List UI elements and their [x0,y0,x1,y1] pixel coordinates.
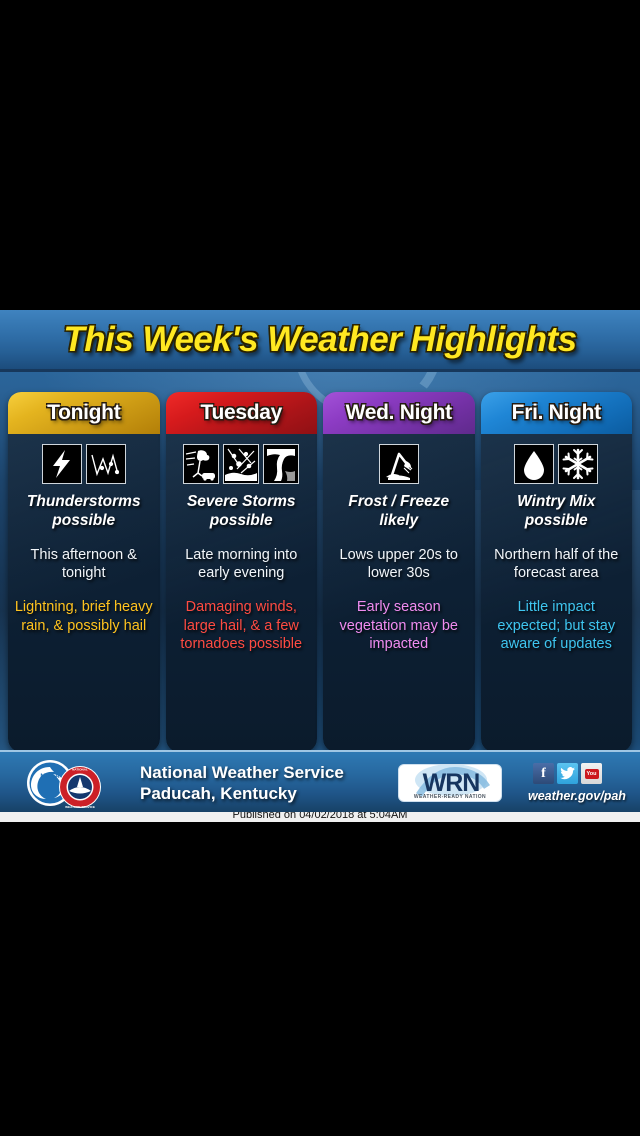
card-impact: Lightning, brief heavy rain, & possibly … [14,598,154,635]
social-links: f You [533,763,602,784]
card-day-label: Fri. Night [512,401,601,425]
icon-strip [183,444,299,484]
card-headline: Severe Storms possible [172,493,312,531]
card-day-label: Wed. Night [346,401,452,425]
card-header-tonight: Tonight [8,392,160,434]
card-body-fri-night: Wintry Mix possible Northern half of the… [481,434,633,752]
card-impact: Early season vegetation may be impacted [329,598,469,654]
card-timing: This afternoon & tonight [14,546,154,582]
card-day-label: Tonight [47,401,120,425]
snowflake-icon [558,444,598,484]
tornado-icon [263,444,299,484]
footer-bar: NOAA NATIONAL WEATHER SERVICE National W [0,750,640,812]
website-link[interactable]: weather.gov/pah [528,789,626,803]
weather-highlights-graphic: This Week's Weather Highlights Tonight [0,310,640,812]
agency-name: National Weather Service Paducah, Kentuc… [140,763,344,805]
title-banner: This Week's Weather Highlights [0,310,640,372]
card-body-tonight: Thunderstorms possible This afternoon & … [8,434,160,752]
nws-seal-icon: NATIONAL WEATHER SERVICE [56,765,104,810]
forecast-card-tonight[interactable]: Tonight Thunderstor [8,392,160,752]
frost-wilted-plant-icon [379,444,419,484]
screenshot-root: This Week's Weather Highlights Tonight [0,0,640,1136]
lightning-bolt-icon [42,444,82,484]
hail-icon [223,444,259,484]
card-day-label: Tuesday [200,401,282,425]
twitter-icon[interactable] [557,763,578,784]
card-timing: Late morning into early evening [172,546,312,582]
wrn-text: WRN [423,769,480,797]
card-body-wed-night: Frost / Freeze likely Lows upper 20s to … [323,434,475,752]
weather-ready-nation-logo[interactable]: WRN WEATHER-READY NATION [398,764,502,802]
facebook-icon[interactable]: f [533,763,554,784]
forecast-card-tuesday[interactable]: Tuesday [166,392,318,752]
icon-strip [379,444,419,484]
icon-strip [514,444,598,484]
card-headline: Thunderstorms possible [14,493,154,531]
card-timing: Lows upper 20s to lower 30s [329,546,469,582]
page-title: This Week's Weather Highlights [63,320,576,360]
card-impact: Damaging winds, large hail, & a few torn… [172,598,312,654]
card-headline: Frost / Freeze likely [329,493,469,531]
card-headline: Wintry Mix possible [487,493,627,531]
card-impact: Little impact expected; but stay aware o… [487,598,627,654]
published-timestamp: Published on 04/02/2018 at 5:04AM [0,812,640,821]
icon-strip [42,444,126,484]
forecast-card-fri-night[interactable]: Fri. Night [481,392,633,752]
card-body-tuesday: Severe Storms possible Late morning into… [166,434,318,752]
forecast-cards-row: Tonight Thunderstor [8,392,632,752]
agency-line-2: Paducah, Kentucky [140,784,344,805]
card-header-fri-night: Fri. Night [481,392,633,434]
svg-text:WEATHER SERVICE: WEATHER SERVICE [65,805,95,809]
card-header-wed-night: Wed. Night [323,392,475,434]
card-header-tuesday: Tuesday [166,392,318,434]
agency-line-1: National Weather Service [140,763,344,784]
published-strip: Published on 04/02/2018 at 5:04AM [0,812,640,822]
wind-damage-icon [183,444,219,484]
raindrop-icon [514,444,554,484]
card-timing: Northern half of the forecast area [487,546,627,582]
forecast-card-wed-night[interactable]: Wed. Night [323,392,475,752]
heavy-rain-icon [86,444,126,484]
wrn-tagline: WEATHER-READY NATION [399,794,501,800]
youtube-icon[interactable]: You [581,763,602,784]
svg-text:NATIONAL: NATIONAL [72,768,88,772]
